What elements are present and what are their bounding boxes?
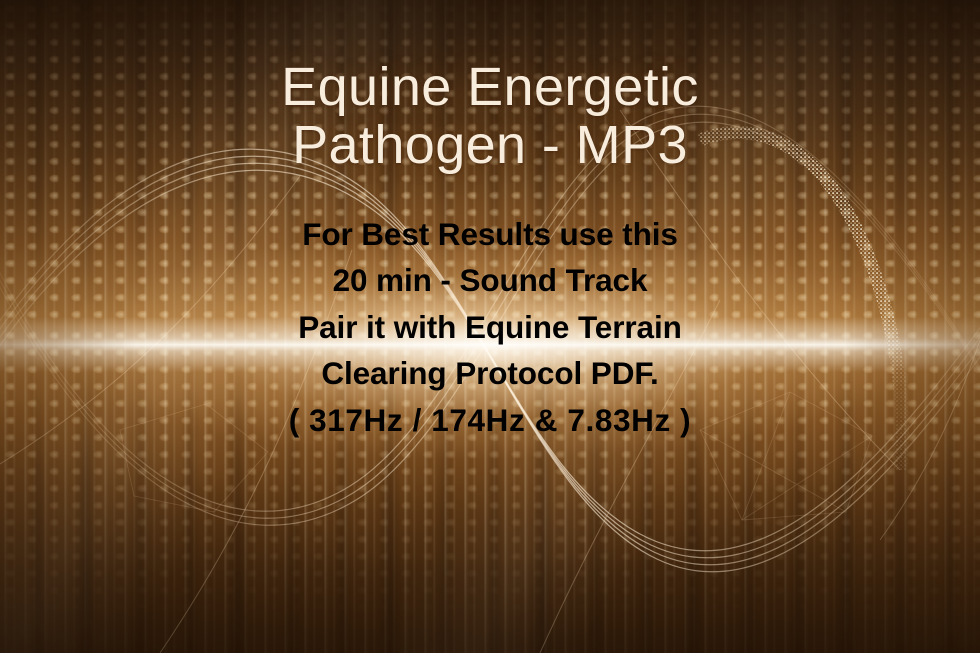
poster-body: For Best Results use this 20 min - Sound… [289, 211, 692, 444]
frequencies-line: ( 317Hz / 174Hz & 7.83Hz ) [289, 397, 692, 444]
title-line-1: Equine Energetic [281, 58, 699, 116]
text-content: Equine Energetic Pathogen - MP3 For Best… [0, 0, 980, 653]
body-line-2: 20 min - Sound Track [289, 257, 692, 304]
poster-title: Equine Energetic Pathogen - MP3 [281, 58, 699, 175]
body-line-1: For Best Results use this [289, 211, 692, 258]
poster-image: Equine Energetic Pathogen - MP3 For Best… [0, 0, 980, 653]
body-line-4: Clearing Protocol PDF. [289, 350, 692, 397]
title-line-2: Pathogen - MP3 [281, 116, 699, 174]
body-line-3: Pair it with Equine Terrain [289, 304, 692, 351]
